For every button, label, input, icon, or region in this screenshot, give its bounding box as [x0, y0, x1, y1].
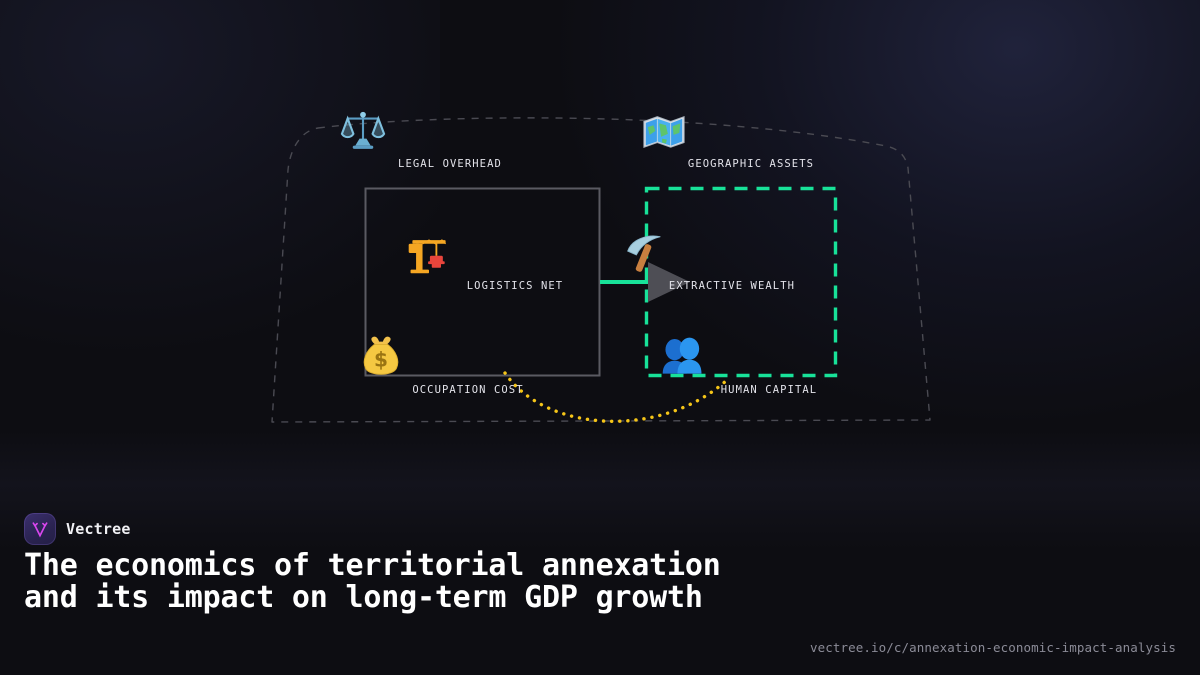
- node-logistics-net[interactable]: LOGISTICS NET: [405, 230, 625, 292]
- construction-crane-icon: [405, 230, 625, 276]
- world-map-icon: [641, 108, 861, 154]
- brand-name: Vectree: [66, 520, 131, 538]
- page-title: The economics of territorial annexation …: [24, 550, 784, 614]
- node-extractive-wealth[interactable]: EXTRACTIVE WEALTH: [622, 230, 842, 292]
- svg-text:$: $: [374, 348, 388, 372]
- people-icon: [659, 334, 879, 380]
- permalink-url: vectree.io/c/annexation-economic-impact-…: [810, 640, 1176, 655]
- node-label: GEOGRAPHIC ASSETS: [641, 158, 861, 170]
- node-occupation-cost[interactable]: $ OCCUPATION COST: [358, 334, 578, 396]
- node-label: EXTRACTIVE WEALTH: [622, 280, 842, 292]
- node-geographic-assets[interactable]: GEOGRAPHIC ASSETS: [641, 108, 861, 170]
- brand[interactable]: Vectree: [24, 513, 131, 545]
- balance-scale-icon: [340, 108, 560, 154]
- vectree-logo-icon: [24, 513, 56, 545]
- node-label: LEGAL OVERHEAD: [340, 158, 560, 170]
- pickaxe-icon: [622, 230, 842, 276]
- footer: Vectree The economics of territorial ann…: [0, 500, 1200, 675]
- node-label: LOGISTICS NET: [405, 280, 625, 292]
- money-bag-icon: $: [358, 334, 578, 380]
- node-legal-overhead[interactable]: LEGAL OVERHEAD: [340, 108, 560, 170]
- node-human-capital[interactable]: HUMAN CAPITAL: [659, 334, 879, 396]
- node-label: HUMAN CAPITAL: [659, 384, 879, 396]
- node-label: OCCUPATION COST: [358, 384, 578, 396]
- diagram-canvas: LEGAL OVERHEAD GEOGRAPHIC ASSETS: [0, 0, 1200, 470]
